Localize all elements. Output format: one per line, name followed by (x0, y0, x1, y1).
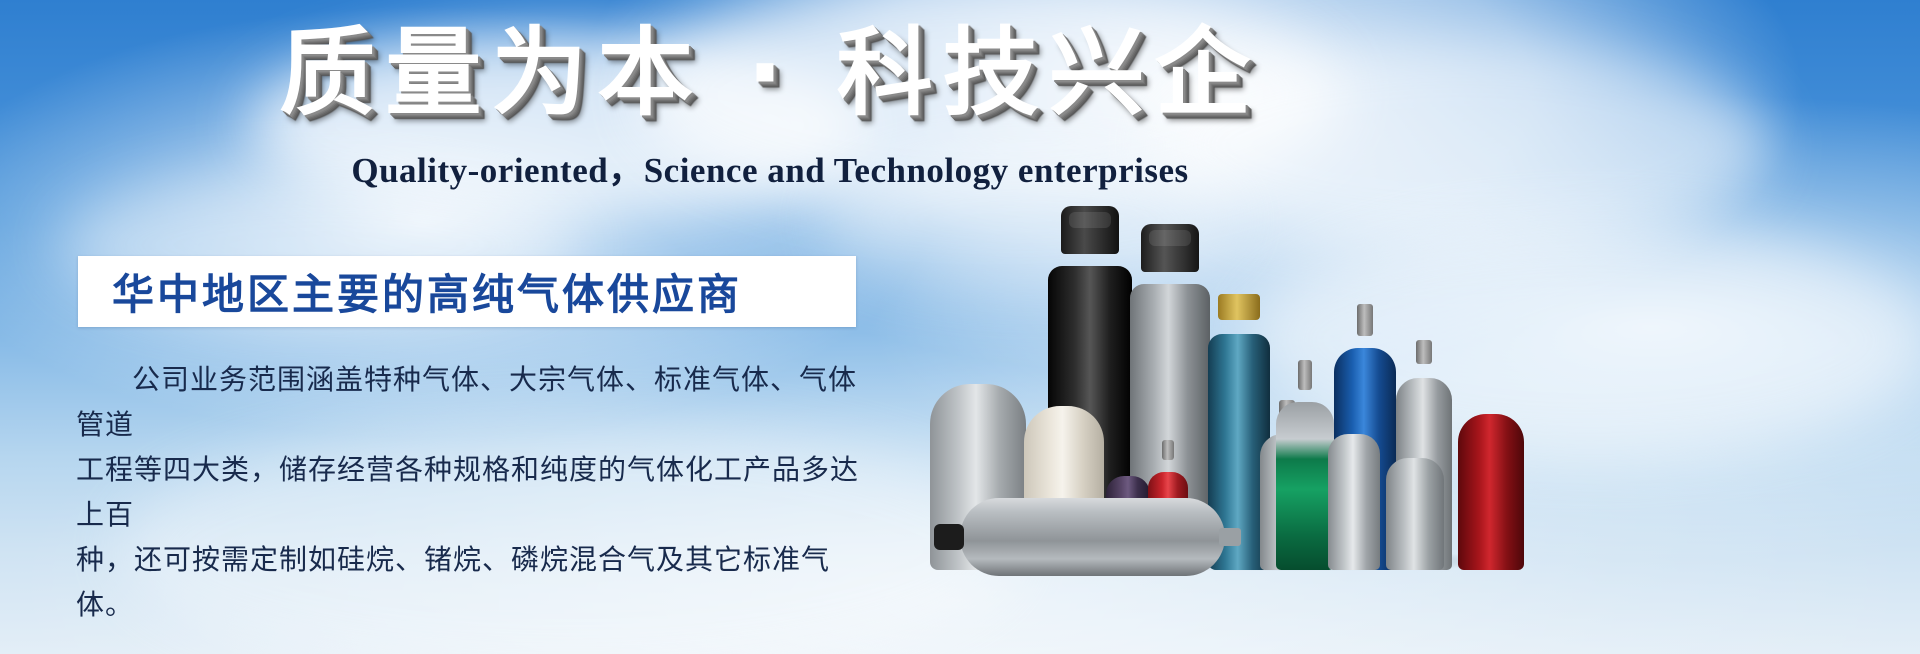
cylinder-valve (1357, 304, 1373, 336)
cylinder-cap (1141, 224, 1199, 272)
tagline-highlight-box: 华中地区主要的高纯气体供应商 (78, 256, 856, 327)
body-line-1: 公司业务范围涵盖特种气体、大宗气体、标准气体、气体管道 (76, 358, 866, 448)
green-cylinder (1276, 388, 1334, 570)
horizontal-silver-tank (960, 498, 1225, 576)
promotional-banner: 质量为本 · 科技兴企 Quality-oriented，Science and… (0, 0, 1920, 654)
body-line-3: 种，还可按需定制如硅烷、锗烷、磷烷混合气及其它标准气体。 (76, 538, 866, 628)
tank-neck (1219, 528, 1241, 546)
banner-headline: 质量为本 · 科技兴企 (0, 22, 1540, 126)
cylinder-body (1328, 434, 1380, 570)
cylinder-body (1276, 402, 1334, 570)
cylinder-body (1458, 414, 1524, 570)
cylinder-valve (1298, 360, 1312, 390)
dark-red-cylinder (1458, 400, 1524, 570)
body-line-2: 工程等四大类，储存经营各种规格和纯度的气体化工产品多达上百 (76, 448, 866, 538)
cylinder-valve (1162, 440, 1174, 460)
banner-body-copy: 公司业务范围涵盖特种气体、大宗气体、标准气体、气体管道 工程等四大类，储存经营各… (76, 358, 866, 628)
cylinder-valve (1218, 294, 1260, 320)
tank-knob (934, 524, 964, 550)
tagline-text: 华中地区主要的高纯气体供应商 (112, 261, 742, 322)
silver-cylinder (1386, 444, 1444, 570)
cylinder-body (1386, 458, 1444, 570)
silver-cylinder (1328, 420, 1380, 570)
cylinder-valve (1416, 340, 1432, 364)
gas-cylinder-group-photo (930, 150, 1630, 570)
cylinder-cap (1061, 206, 1119, 254)
